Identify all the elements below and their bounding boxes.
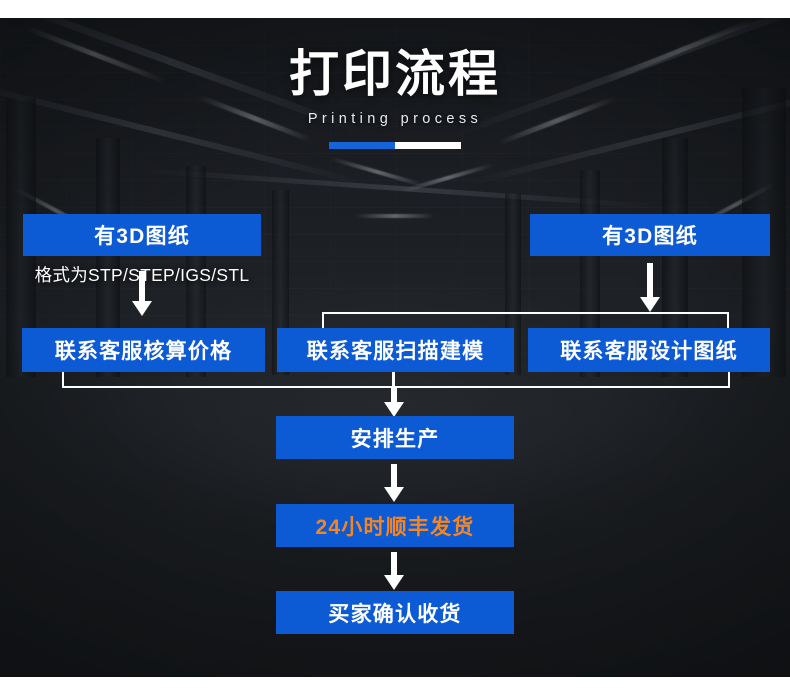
arrow-down-icon [131,271,153,317]
header-block: 打印流程 Printing process [0,46,790,149]
arrow-down-icon [639,263,661,313]
flow-box-row1-right[interactable]: 有3D图纸 [530,214,770,256]
arrow-down-icon [383,552,405,591]
title-underline-blue-segment [329,142,395,149]
flow-box-row2-contact-scan-model[interactable]: 联系客服扫描建模 [277,328,514,372]
flow-box-24h-shipping[interactable]: 24小时顺丰发货 [276,504,514,547]
arrow-down-icon [383,386,405,418]
page-subtitle: Printing process [0,111,790,127]
flow-box-buyer-confirm-receipt[interactable]: 买家确认收货 [276,591,514,634]
title-underline-white-segment [395,142,461,149]
arrow-down-icon [383,464,405,503]
ceiling-light-tube [355,214,435,218]
flow-box-row2-contact-price[interactable]: 联系客服核算价格 [22,328,265,372]
printing-process-banner: 打印流程 Printing process 有3D图纸 格式为STP/STEP/… [0,0,790,696]
flow-box-row1-left[interactable]: 有3D图纸 [23,214,261,256]
flow-box-arrange-production[interactable]: 安排生产 [276,416,514,459]
page-title: 打印流程 [0,46,790,102]
flow-box-row2-contact-design[interactable]: 联系客服设计图纸 [528,328,770,372]
title-underline-bar [329,142,461,149]
